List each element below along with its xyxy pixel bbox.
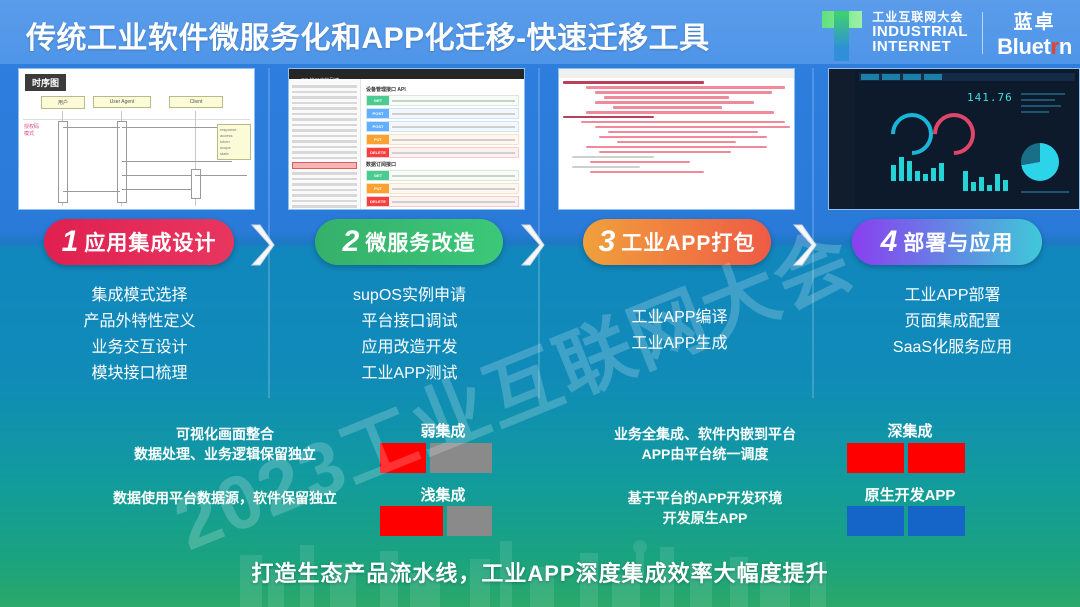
integration-box-native-a	[847, 506, 904, 536]
conference-logo-en-line2: INTERNET	[872, 39, 968, 55]
api-method-badge: POST	[367, 122, 389, 131]
integration-box-shallow-integrated	[380, 506, 443, 536]
integration-desc-weak-line1: 可视化画面整合	[80, 424, 370, 444]
sequence-side-label: 授权码模式	[24, 124, 42, 138]
api-method-badge: DELETE	[367, 197, 389, 206]
api-row[interactable]: PUT	[366, 183, 519, 194]
step-label-4: 部署与应用	[903, 227, 1013, 257]
conference-logo-text: 工业互联网大会 INDUSTRIAL INTERNET	[872, 11, 968, 55]
thumbnail-sequence-diagram[interactable]: 时序图 用户 User Agent Client responseaccesst…	[18, 68, 255, 210]
dashboard-canvas: 141.76	[855, 69, 1079, 209]
lifeline-head-client: Client	[169, 96, 223, 108]
feature-item: SaaS化服务应用	[835, 335, 1070, 361]
slide-tagline: 打造生态产品流水线，工业APP深度集成效率大幅度提升	[0, 556, 1080, 588]
step-number-3: 3	[599, 227, 616, 257]
pie-chart	[1021, 143, 1059, 181]
api-method-badge: GET	[367, 96, 389, 105]
brand-en-suffix: n	[1059, 34, 1072, 59]
step-badge-1[interactable]: 1 应用集成设计	[44, 219, 234, 265]
brand-en-dot: r	[1051, 34, 1059, 59]
feature-item: 工业APP编译	[562, 305, 797, 331]
step-badge-2[interactable]: 2 微服务改造	[315, 219, 503, 265]
slide-header: 传统工业软件微服务化和APP化迁移-快速迁移工具 工业互联网大会 INDUSTR…	[0, 0, 1080, 64]
conference-logo-en-line1: INDUSTRIAL	[872, 24, 968, 40]
step-badge-3[interactable]: 3 工业APP打包	[583, 219, 771, 265]
api-row[interactable]: POST	[366, 121, 519, 132]
api-method-badge: POST	[367, 109, 389, 118]
chevron-right-icon-2	[518, 222, 546, 268]
page-title: 传统工业软件微服务化和APP化迁移-快速迁移工具	[26, 13, 710, 57]
api-section-title-1: 设备管理接口 API	[366, 86, 519, 93]
code-log-content	[559, 78, 794, 209]
api-row[interactable]: DELETE	[366, 147, 519, 158]
conference-t-mark-icon	[822, 7, 862, 59]
brand-name-en: Bluetrn	[997, 34, 1072, 60]
feature-item: supOS实例申请	[292, 283, 527, 309]
api-row[interactable]: GET	[366, 170, 519, 181]
integration-desc-native-line2: 开发原生APP	[560, 508, 850, 528]
dashboard-sidebar[interactable]	[829, 69, 855, 209]
integration-desc-native-line1: 基于平台的APP开发环境	[560, 488, 850, 508]
step-number-1: 1	[62, 227, 79, 257]
thumbnail-data-dashboard[interactable]: 141.76	[828, 68, 1080, 210]
integration-caption-deep: 深集成	[845, 420, 975, 441]
feature-item: 应用改造开发	[292, 335, 527, 361]
feature-item: 平台接口调试	[292, 309, 527, 335]
conference-logo-cn: 工业互联网大会	[872, 11, 968, 24]
integration-desc-shallow-line1: 数据使用平台数据源，软件保留独立	[80, 488, 370, 508]
feature-list-3: 工业APP编译 工业APP生成	[562, 305, 797, 357]
api-section-title-2: 数据订阅接口	[366, 161, 519, 168]
integration-desc-native: 基于平台的APP开发环境 开发原生APP	[560, 488, 850, 528]
feature-item: 产品外特性定义	[22, 309, 257, 335]
feature-list-1: 集成模式选择 产品外特性定义 业务交互设计 模块接口梳理	[22, 283, 257, 387]
step-label-2: 微服务改造	[365, 227, 475, 257]
api-doc-titlebar: supOS 接口文档列表	[289, 69, 524, 79]
integration-caption-weak: 弱集成	[378, 420, 508, 441]
dashboard-highlight-value: 141.76	[967, 91, 1013, 104]
api-method-badge: DELETE	[367, 148, 389, 157]
sequence-diagram-caption: 时序图	[25, 74, 66, 91]
sequence-note: responseaccesstokenscopestate	[217, 124, 251, 160]
integration-desc-deep: 业务全集成、软件内嵌到平台 APP由平台统一调度	[560, 424, 850, 464]
feature-item: 工业APP部署	[835, 283, 1070, 309]
api-row[interactable]: PUT	[366, 134, 519, 145]
integration-box-deep-a	[847, 443, 904, 473]
bar-chart-center	[963, 165, 1008, 191]
api-doc-content: 设备管理接口 API GET POST POST PUT DELETE 数据订阅…	[361, 79, 524, 209]
feature-item: 模块接口梳理	[22, 361, 257, 387]
integration-desc-shallow: 数据使用平台数据源，软件保留独立	[80, 488, 370, 508]
integration-desc-deep-line1: 业务全集成、软件内嵌到平台	[560, 424, 850, 444]
lifeline-head-user: 用户	[41, 96, 85, 109]
step-number-2: 2	[343, 227, 360, 257]
integration-caption-native: 原生开发APP	[845, 484, 975, 505]
integration-box-native-b	[908, 506, 965, 536]
step-number-4: 4	[881, 227, 898, 257]
step-label-1: 应用集成设计	[84, 227, 216, 257]
feature-item: 业务交互设计	[22, 335, 257, 361]
step-label-3: 工业APP打包	[621, 227, 755, 257]
bar-chart-left	[891, 151, 944, 181]
integration-box-deep-b	[908, 443, 965, 473]
logo-zone: 工业互联网大会 INDUSTRIAL INTERNET 蓝卓 Bluetrn	[822, 4, 1072, 62]
feature-item: 工业APP生成	[562, 331, 797, 357]
integration-desc-weak-line2: 数据处理、业务逻辑保留独立	[80, 444, 370, 464]
api-method-badge: PUT	[367, 184, 389, 193]
lifeline-head-user-agent: User Agent	[93, 96, 151, 108]
chevron-right-icon-1	[248, 222, 276, 268]
logo-divider	[982, 12, 983, 54]
feature-list-2: supOS实例申请 平台接口调试 应用改造开发 工业APP测试	[292, 283, 527, 387]
api-row[interactable]: DELETE	[366, 196, 519, 207]
integration-caption-shallow: 浅集成	[378, 484, 508, 505]
slide-root: 传统工业软件微服务化和APP化迁移-快速迁移工具 工业互联网大会 INDUSTR…	[0, 0, 1080, 607]
feature-list-4: 工业APP部署 页面集成配置 SaaS化服务应用	[835, 283, 1070, 361]
brand-logo: 蓝卓 Bluetrn	[997, 7, 1072, 60]
chevron-right-icon-3	[790, 222, 818, 268]
feature-item: 工业APP测试	[292, 361, 527, 387]
integration-box-shallow-independent	[447, 506, 492, 536]
api-row[interactable]: GET	[366, 95, 519, 106]
api-method-badge: GET	[367, 171, 389, 180]
thumbnail-api-documentation[interactable]: supOS 接口文档列表 设备管理接口 API GET POST POST PU…	[288, 68, 525, 210]
feature-item: 页面集成配置	[835, 309, 1070, 335]
integration-box-weak-independent	[430, 443, 492, 473]
brand-name-cn: 蓝卓	[997, 7, 1072, 34]
step-badge-4[interactable]: 4 部署与应用	[852, 219, 1042, 265]
integration-box-weak-integrated	[380, 443, 426, 473]
api-doc-sidebar[interactable]	[289, 79, 361, 209]
brand-en-prefix: Bluet	[997, 34, 1051, 59]
integration-desc-weak: 可视化画面整合 数据处理、业务逻辑保留独立	[80, 424, 370, 464]
api-row[interactable]: POST	[366, 108, 519, 119]
api-method-badge: PUT	[367, 135, 389, 144]
thumbnail-build-log[interactable]	[558, 68, 795, 210]
feature-item: 集成模式选择	[22, 283, 257, 309]
integration-panel: 可视化画面整合 数据处理、业务逻辑保留独立 弱集成 数据使用平台数据源，软件保留…	[0, 410, 1080, 540]
integration-desc-deep-line2: APP由平台统一调度	[560, 444, 850, 464]
dashboard-tabs[interactable]	[859, 73, 1075, 81]
